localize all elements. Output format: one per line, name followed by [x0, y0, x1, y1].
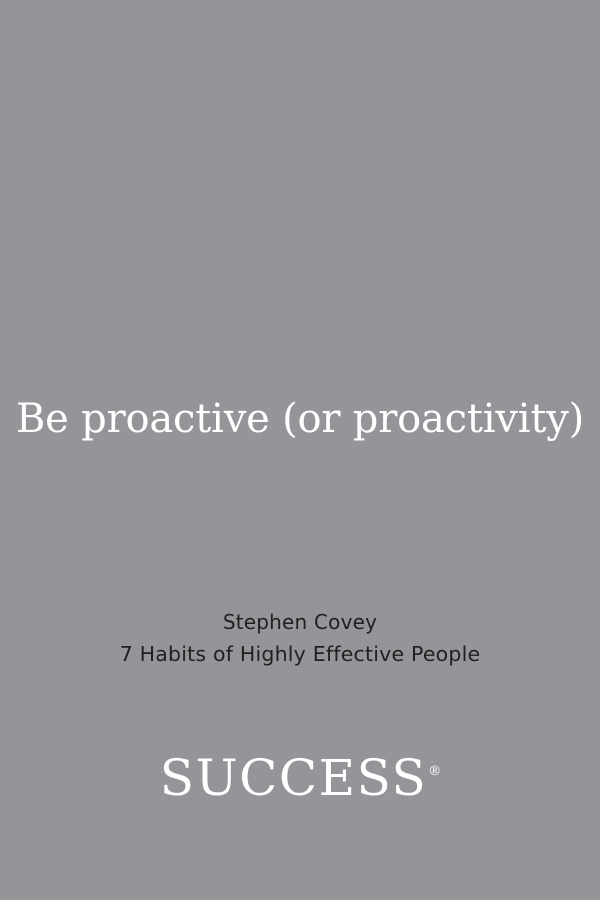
quote-author: Stephen Covey [0, 606, 600, 638]
registered-trademark-icon: ® [428, 764, 441, 779]
quote-text: Be proactive (or proactivity) [0, 392, 600, 446]
attribution-block: Stephen Covey 7 Habits of Highly Effecti… [0, 606, 600, 670]
quote-card: Be proactive (or proactivity) Stephen Co… [0, 0, 600, 900]
brand-wordmark: SUCCESS [160, 749, 428, 807]
quote-source: 7 Habits of Highly Effective People [0, 638, 600, 670]
success-logo: SUCCESS® [0, 752, 600, 804]
